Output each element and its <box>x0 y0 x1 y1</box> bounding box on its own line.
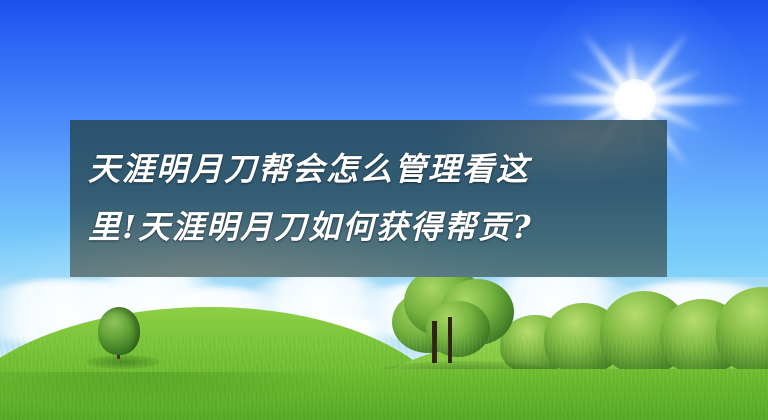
grass-shading <box>0 372 768 420</box>
headline-line-2: 里!天涯明月刀如何获得帮贡? <box>88 198 649 256</box>
tree-small-canopy <box>98 307 140 355</box>
banner-scene: 天涯明月刀帮会怎么管理看这 里!天涯明月刀如何获得帮贡? <box>0 0 768 420</box>
text-overlay-panel: 天涯明月刀帮会怎么管理看这 里!天涯明月刀如何获得帮贡? <box>70 120 667 277</box>
sun-core <box>614 79 656 121</box>
landscape-band <box>0 277 768 420</box>
headline-line-1: 天涯明月刀帮会怎么管理看这 <box>88 140 649 198</box>
tree-small-shadow <box>86 355 160 369</box>
